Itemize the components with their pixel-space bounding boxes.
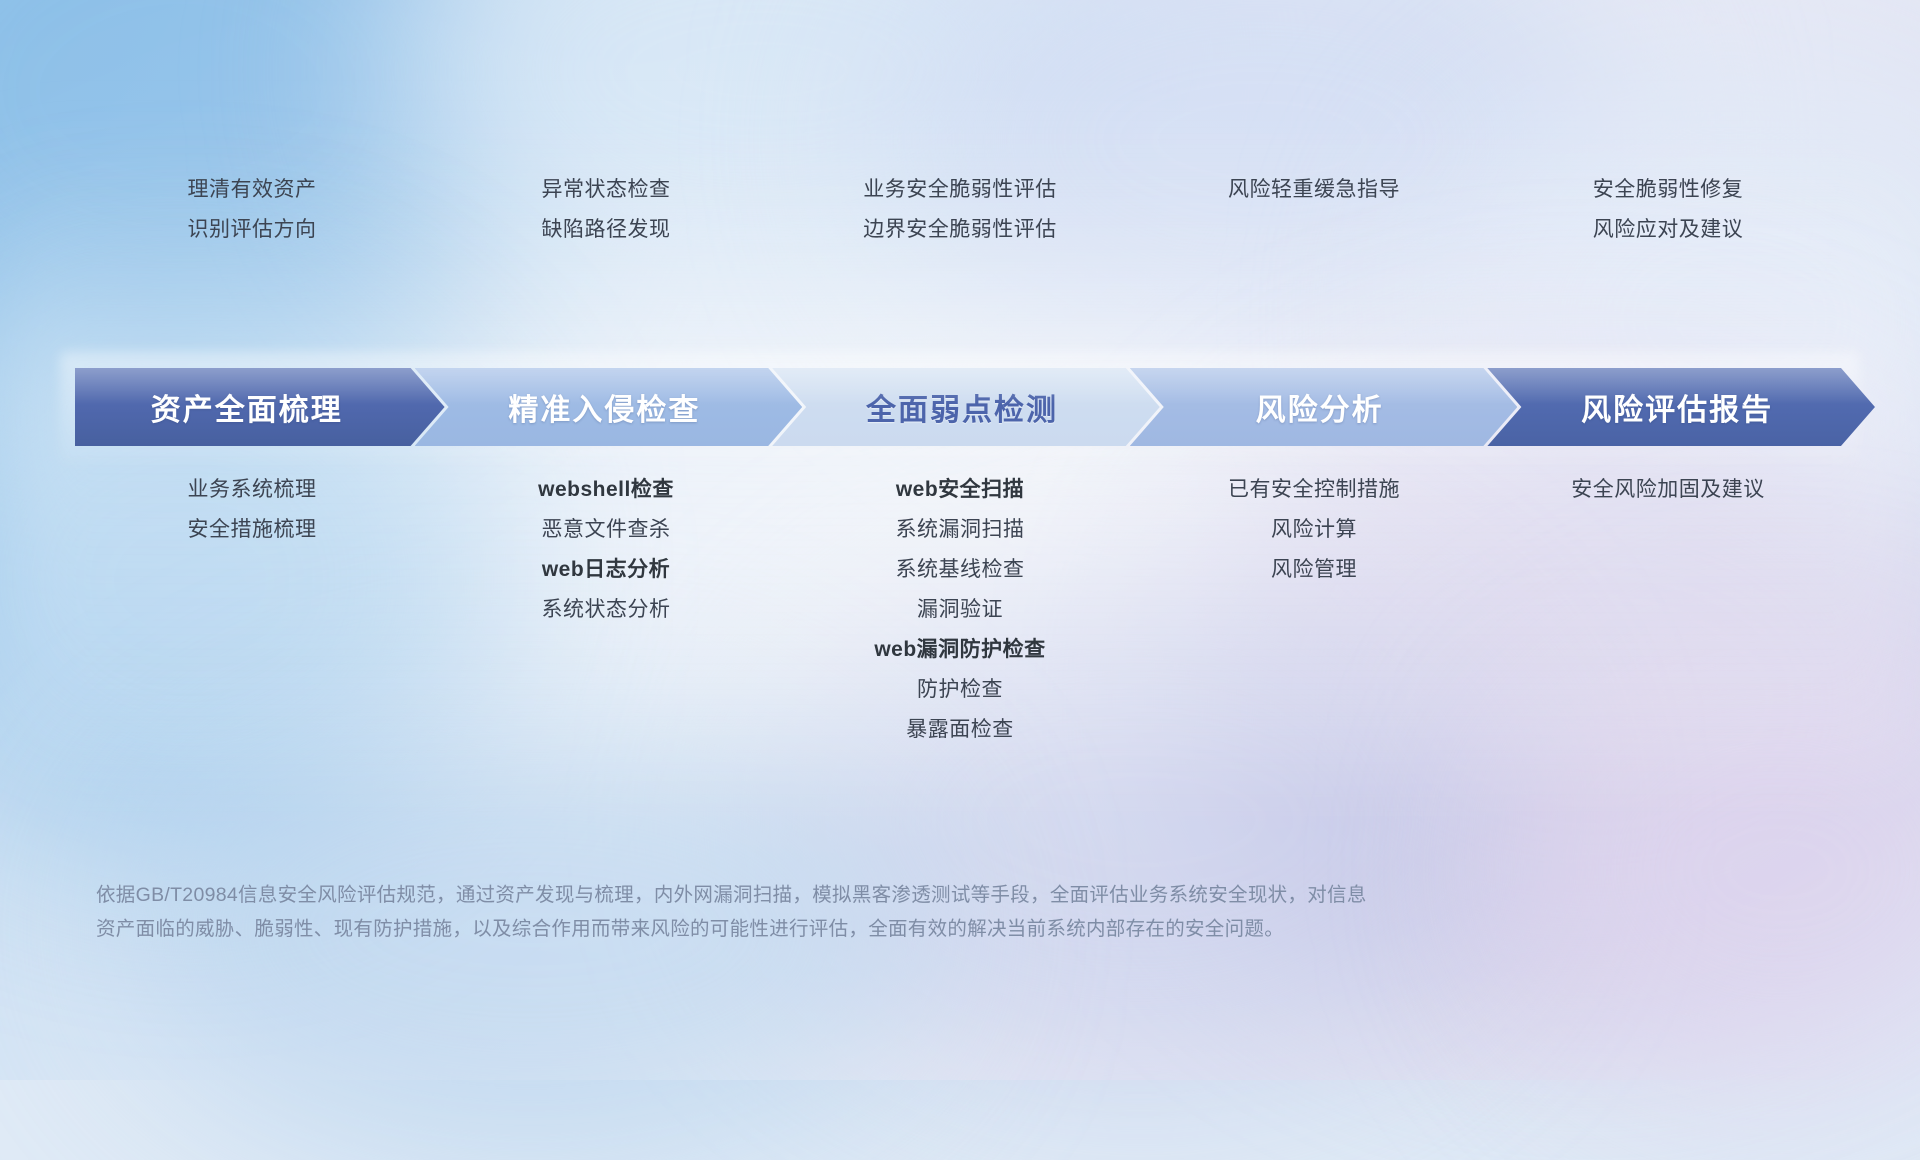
bottom-notes-intrusion-check: webshell检查 恶意文件查杀 web日志分析 系统状态分析: [429, 470, 783, 750]
top-notes-risk-analysis: 风险轻重缓急指导: [1137, 170, 1491, 250]
chevron-band: 资产全面梳理 精准入侵检查 全面弱点检测 风险分析 风险评估报告: [75, 368, 1845, 446]
top-note: 缺陷路径发现: [542, 210, 671, 250]
top-note: 安全脆弱性修复: [1593, 170, 1744, 210]
top-note: 边界安全脆弱性评估: [863, 210, 1057, 250]
bottom-note: 安全措施梳理: [188, 510, 317, 550]
top-notes-intrusion-check: 异常状态检查 缺陷路径发现: [429, 170, 783, 250]
top-notes-weakness-detection: 业务安全脆弱性评估 边界安全脆弱性评估: [783, 170, 1137, 250]
bottom-notes-assessment-report: 安全风险加固及建议: [1491, 470, 1845, 750]
bottom-notes-weakness-detection: web安全扫描 系统漏洞扫描 系统基线检查 漏洞验证 web漏洞防护检查 防护检…: [783, 470, 1137, 750]
top-note: 理清有效资产: [188, 170, 317, 210]
step-label: 全面弱点检测: [790, 385, 1160, 429]
bottom-note: 已有安全控制措施: [1228, 470, 1400, 510]
bottom-note: 恶意文件查杀: [542, 510, 671, 550]
top-note: 异常状态检查: [542, 170, 671, 210]
footer-description: 依据GB/T20984信息安全风险评估规范，通过资产发现与梳理，内外网漏洞扫描，…: [96, 878, 1656, 946]
step-label: 精准入侵检查: [433, 385, 803, 429]
top-notes-row: 理清有效资产 识别评估方向 异常状态检查 缺陷路径发现 业务安全脆弱性评估 边界…: [75, 170, 1845, 250]
step-chevron-risk-analysis[interactable]: 风险分析: [1130, 368, 1518, 446]
bottom-note: 防护检查: [917, 670, 1003, 710]
bottom-notes-risk-analysis: 已有安全控制措施 风险计算 风险管理: [1137, 470, 1491, 750]
bottom-note: 风险计算: [1271, 510, 1357, 550]
bottom-notes-row: 业务系统梳理 安全措施梳理 webshell检查 恶意文件查杀 web日志分析 …: [75, 470, 1845, 750]
step-chevron-intrusion-check[interactable]: 精准入侵检查: [415, 368, 803, 446]
bottom-note: 漏洞验证: [917, 590, 1003, 630]
bottom-note: 系统基线检查: [896, 550, 1025, 590]
step-chevron-assessment-report[interactable]: 风险评估报告: [1487, 368, 1875, 446]
bottom-note: 暴露面检查: [906, 710, 1014, 750]
step-label: 风险评估报告: [1505, 385, 1875, 429]
top-note: 风险应对及建议: [1593, 210, 1744, 250]
top-notes-assessment-report: 安全脆弱性修复 风险应对及建议: [1491, 170, 1845, 250]
top-note: 识别评估方向: [188, 210, 317, 250]
step-chevron-weakness-detection[interactable]: 全面弱点检测: [772, 368, 1160, 446]
step-label: 资产全面梳理: [75, 385, 445, 429]
footer-line: 依据GB/T20984信息安全风险评估规范，通过资产发现与梳理，内外网漏洞扫描，…: [96, 878, 1656, 912]
bottom-note: 业务系统梳理: [188, 470, 317, 510]
step-label: 风险分析: [1148, 385, 1518, 429]
process-diagram: 理清有效资产 识别评估方向 异常状态检查 缺陷路径发现 业务安全脆弱性评估 边界…: [0, 0, 1920, 1080]
footer-line: 资产面临的威胁、脆弱性、现有防护措施，以及综合作用而带来风险的可能性进行评估，全…: [96, 912, 1656, 946]
bottom-note: 系统漏洞扫描: [896, 510, 1025, 550]
top-note: 风险轻重缓急指导: [1228, 170, 1400, 210]
step-chevron-asset-inventory[interactable]: 资产全面梳理: [75, 368, 445, 446]
top-note: 业务安全脆弱性评估: [863, 170, 1057, 210]
bottom-note: web日志分析: [542, 550, 670, 590]
bottom-note: web漏洞防护检查: [874, 630, 1045, 670]
bottom-note: 安全风险加固及建议: [1571, 470, 1765, 510]
bottom-note: webshell检查: [538, 470, 674, 510]
bottom-notes-asset-inventory: 业务系统梳理 安全措施梳理: [75, 470, 429, 750]
top-notes-asset-inventory: 理清有效资产 识别评估方向: [75, 170, 429, 250]
bottom-note: 风险管理: [1271, 550, 1357, 590]
bottom-note: web安全扫描: [896, 470, 1024, 510]
bottom-note: 系统状态分析: [542, 590, 671, 630]
